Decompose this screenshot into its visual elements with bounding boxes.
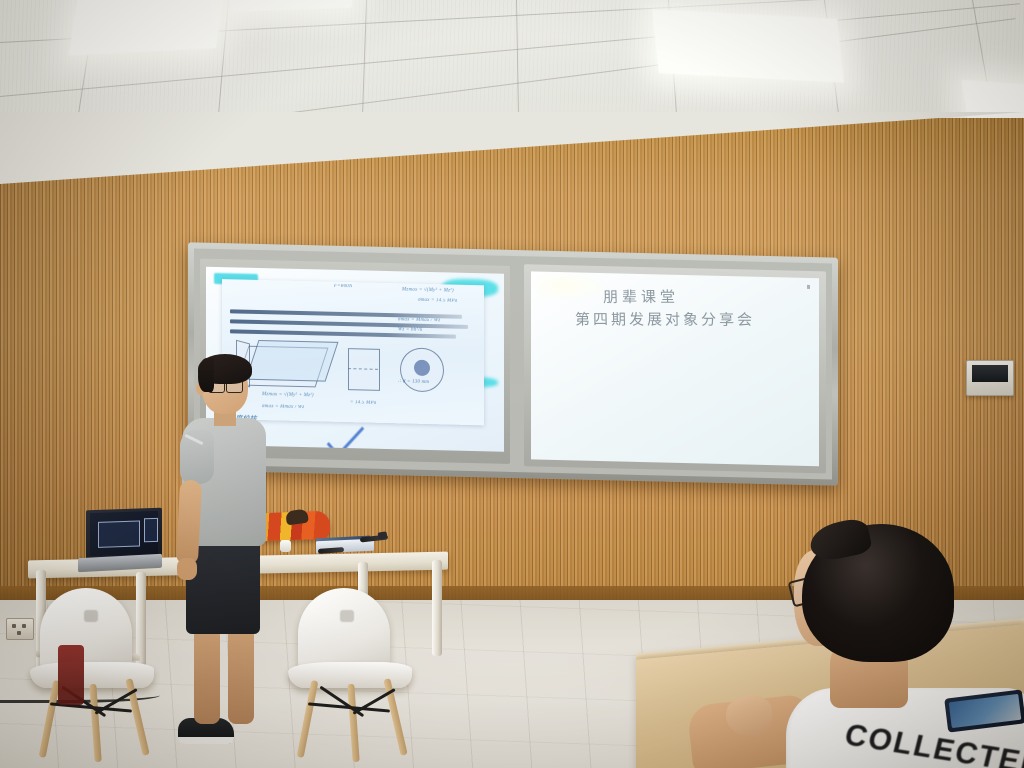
- smartphone-screen: [949, 694, 1022, 728]
- shoe-sole: [178, 737, 234, 744]
- classroom-photo-scene: Mzmax = √(My² + Mz²) σmax = 14.5 MPa F=8…: [0, 0, 1024, 768]
- wall-control-panel[interactable]: [966, 360, 1014, 396]
- slide-handwriting: σmax = Mmax / Wz: [398, 317, 440, 324]
- laptop-window: [144, 518, 158, 542]
- laptop-window: [98, 520, 140, 547]
- panel-light-1: [68, 0, 225, 56]
- slide-handwriting: Mzmax = √(My² + Mz²): [402, 287, 454, 294]
- slide-handwriting: = 14.5 MPa: [350, 400, 376, 407]
- standing-presenter: [172, 352, 280, 768]
- outlet-hole: [12, 624, 16, 628]
- outlet-hole: [17, 631, 21, 635]
- presenter-leg-left: [194, 628, 220, 724]
- presenter-hand: [177, 558, 197, 580]
- whiteboard-title-line-2: 第四期发展对象分享会: [575, 308, 755, 329]
- slide-handwriting: ∴ d = 130 mm: [398, 379, 429, 386]
- presenter-hair-side: [198, 358, 214, 392]
- outlet-hole: [22, 624, 26, 628]
- chair-leg: [347, 684, 359, 762]
- chair-sticker: [340, 610, 354, 622]
- whiteboard-bezel: 朋辈课堂 第四期发展对象分享会: [524, 264, 826, 473]
- slide-figure-label: F=800N: [334, 284, 352, 290]
- slide-handwriting: Wz = bh²/6: [398, 327, 422, 334]
- chair-left[interactable]: [30, 588, 160, 768]
- seated-viewer: COLLECTED: [690, 520, 1024, 768]
- presenter-leg-right: [228, 628, 254, 724]
- wall-panel-display: [972, 365, 1008, 382]
- panel-light-2: [652, 9, 844, 83]
- whiteboard-glare: [537, 274, 607, 302]
- whiteboard-surface[interactable]: 朋辈课堂 第四期发展对象分享会: [531, 271, 819, 466]
- screen-and-whiteboard-frame: Mzmax = √(My² + Mz²) σmax = 14.5 MPa F=8…: [188, 242, 838, 485]
- slide-circle-core: [414, 360, 430, 376]
- chair-right[interactable]: [288, 588, 418, 768]
- presenter-sleeve: [180, 430, 214, 484]
- laptop-screen[interactable]: [90, 511, 158, 556]
- chair-leg: [89, 684, 101, 762]
- table-leg: [432, 560, 442, 656]
- whiteboard-title-line-1: 朋辈课堂: [603, 286, 680, 307]
- laptop-lid[interactable]: [86, 508, 162, 561]
- whiteboard-corner-mark: [807, 285, 810, 289]
- red-bag-under-chair: [58, 645, 84, 705]
- presenter-arm: [176, 479, 202, 564]
- board-inner-panel: Mzmax = √(My² + Mz²) σmax = 14.5 MPa F=8…: [194, 248, 832, 479]
- chair-sticker: [84, 610, 98, 622]
- chair-leg: [297, 680, 319, 758]
- slide-handwriting: σmax = 14.5 MPa: [418, 298, 457, 305]
- marker-cap: [378, 531, 388, 539]
- viewer-hand: [726, 696, 772, 736]
- whiteboard-eraser[interactable]: [280, 540, 291, 552]
